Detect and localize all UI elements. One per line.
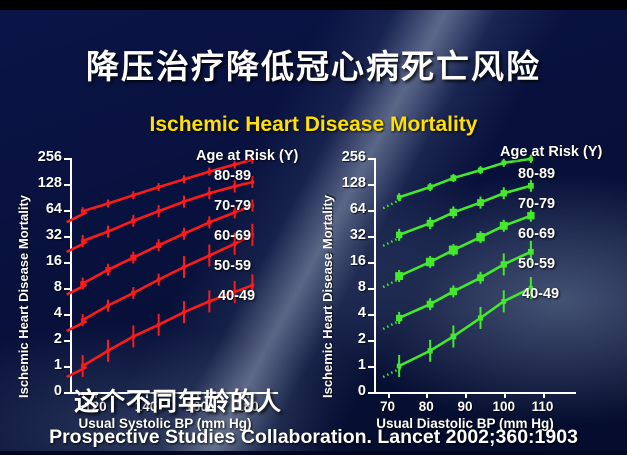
data-point-marker	[251, 204, 255, 208]
data-point-marker	[233, 185, 237, 189]
legend-item-50-59: 50-59	[518, 256, 555, 272]
legend-item-80-89: 80-89	[518, 166, 555, 182]
x-tick-label: 100	[492, 399, 515, 414]
series-line	[399, 288, 531, 366]
legend-item-70-79: 70-79	[214, 198, 251, 214]
data-point-marker	[182, 265, 186, 269]
x-tick-label: 90	[457, 399, 472, 414]
y-tick-label: 8	[54, 279, 62, 295]
data-point-marker	[527, 212, 534, 219]
data-point-marker	[528, 249, 534, 255]
data-point-marker	[208, 170, 212, 173]
data-point-marker	[477, 274, 484, 281]
series-line	[399, 216, 531, 276]
data-point-marker	[208, 192, 212, 196]
y-tick-label: 4	[358, 305, 366, 321]
y-tick-label: 128	[342, 175, 366, 191]
legend-item-70-79: 70-79	[518, 196, 555, 212]
y-tick-label: 2	[54, 331, 62, 347]
data-point-marker	[182, 231, 187, 236]
series-40-49	[383, 277, 533, 377]
data-point-marker	[477, 199, 484, 206]
data-point-marker	[157, 323, 161, 327]
y-tick-label: 1	[54, 357, 62, 373]
chart-panel-diastolic: Ischemic Heart Disease Mortality 2561286…	[300, 140, 627, 425]
y-axis-label-left: Ischemic Heart Disease Mortality	[16, 195, 31, 398]
data-point-marker	[500, 222, 508, 230]
data-point-marker	[182, 178, 186, 182]
data-point-marker	[501, 160, 506, 165]
y-tick-label: 32	[350, 227, 366, 243]
legend-item-50-59: 50-59	[214, 258, 251, 274]
data-point-marker	[157, 209, 161, 213]
y-axis-label-right: Ischemic Heart Disease Mortality	[320, 195, 335, 398]
slide-chinese-title: 降压治疗降低冠心病死亡风险	[0, 40, 627, 88]
data-point-marker	[397, 195, 402, 200]
data-point-marker	[81, 318, 85, 322]
series-80-89	[383, 155, 533, 208]
data-point-marker	[450, 209, 457, 216]
data-point-marker	[106, 349, 110, 353]
legend-item-40-49: 40-49	[218, 288, 255, 304]
series-canvas	[70, 140, 300, 405]
x-tick-mark	[426, 392, 428, 398]
data-point-marker	[80, 281, 85, 286]
y-tick-label: 256	[38, 149, 62, 165]
y-tick-label: 64	[46, 201, 62, 217]
data-point-marker	[156, 243, 161, 248]
legend-item-60-69: 60-69	[214, 228, 251, 244]
legend-item-40-49: 40-49	[522, 286, 559, 302]
data-point-marker	[428, 184, 433, 189]
data-point-marker	[397, 364, 402, 369]
data-point-marker	[449, 246, 458, 255]
x-tick-label: 110	[532, 399, 554, 414]
series-60-69	[383, 210, 534, 287]
y-tick-label: 4	[54, 305, 62, 321]
data-point-marker	[396, 232, 402, 238]
y-tick-label: 2	[358, 331, 366, 347]
plot-area-diastolic	[372, 152, 558, 394]
data-point-marker	[106, 304, 110, 308]
data-point-marker	[251, 180, 255, 184]
data-point-marker	[450, 175, 456, 181]
x-axis-spine	[372, 392, 576, 394]
data-point-marker	[478, 168, 483, 173]
data-point-marker	[157, 278, 161, 282]
data-point-marker	[478, 315, 483, 320]
data-point-marker	[528, 183, 534, 189]
data-point-marker	[106, 230, 110, 234]
y-tick-label: 8	[358, 279, 366, 295]
x-tick-mark	[504, 392, 506, 398]
data-point-marker	[208, 300, 212, 304]
bottom-letterbox-bar	[0, 451, 627, 455]
x-tick-label: 80	[419, 399, 434, 414]
data-point-marker	[130, 255, 136, 261]
data-point-marker	[450, 334, 456, 340]
y-tick-label: 256	[342, 149, 366, 165]
data-point-marker	[81, 364, 85, 368]
citation-text: Prospective Studies Collaboration. Lance…	[0, 426, 627, 449]
data-point-marker	[396, 315, 402, 321]
y-tick-label: 64	[350, 201, 366, 217]
y-tick-label: 16	[46, 253, 62, 269]
data-point-marker	[251, 284, 255, 288]
legend-title-right: Age at Risk (Y)	[500, 144, 627, 160]
data-point-marker	[81, 209, 85, 213]
series-50-59	[383, 241, 534, 329]
x-tick-mark	[543, 392, 545, 398]
data-point-marker	[81, 239, 85, 243]
data-point-marker	[207, 220, 211, 224]
y-tick-label: 128	[38, 175, 62, 191]
series-70-79	[383, 180, 534, 246]
y-tick-label: 0	[358, 383, 366, 399]
data-point-marker	[428, 348, 433, 353]
x-tick-label: 70	[380, 399, 395, 414]
data-point-marker	[427, 301, 434, 308]
data-point-marker	[501, 190, 507, 196]
data-point-marker	[395, 272, 403, 280]
series-line	[399, 186, 531, 235]
y-tick-label: 1	[358, 357, 366, 373]
legend-item-80-89: 80-89	[214, 168, 251, 184]
data-point-marker	[182, 310, 186, 314]
data-point-marker	[476, 233, 484, 241]
y-tick-label: 16	[350, 253, 366, 269]
y-tick-label: 32	[46, 227, 62, 243]
data-point-marker	[427, 220, 434, 227]
legend-item-60-69: 60-69	[518, 226, 555, 242]
data-point-marker	[132, 335, 136, 339]
series-line	[399, 252, 531, 318]
data-point-marker	[105, 267, 110, 272]
data-point-marker	[131, 219, 135, 223]
legend-right: Age at Risk (Y) 80-8970-7960-6950-5940-4…	[500, 144, 627, 160]
data-point-marker	[450, 288, 457, 295]
x-tick-mark	[465, 392, 467, 398]
data-point-marker	[501, 261, 507, 267]
slide-subtitle: Ischemic Heart Disease Mortality	[0, 113, 627, 137]
data-point-marker	[182, 200, 186, 204]
data-point-marker	[208, 254, 212, 258]
data-point-marker	[131, 291, 135, 295]
series-canvas	[372, 140, 598, 405]
data-point-marker	[251, 233, 255, 237]
data-point-marker	[106, 202, 110, 206]
chinese-subtitle-overlay: 这个不同年龄的人	[48, 382, 308, 418]
top-letterbox-bar	[0, 0, 627, 10]
data-point-marker	[157, 185, 161, 189]
data-point-marker	[132, 193, 136, 197]
slide-canvas: 降压治疗降低冠心病死亡风险 Ischemic Heart Disease Mor…	[0, 0, 627, 455]
x-tick-mark	[388, 392, 390, 398]
data-point-marker	[426, 258, 434, 266]
data-point-marker	[501, 299, 506, 304]
